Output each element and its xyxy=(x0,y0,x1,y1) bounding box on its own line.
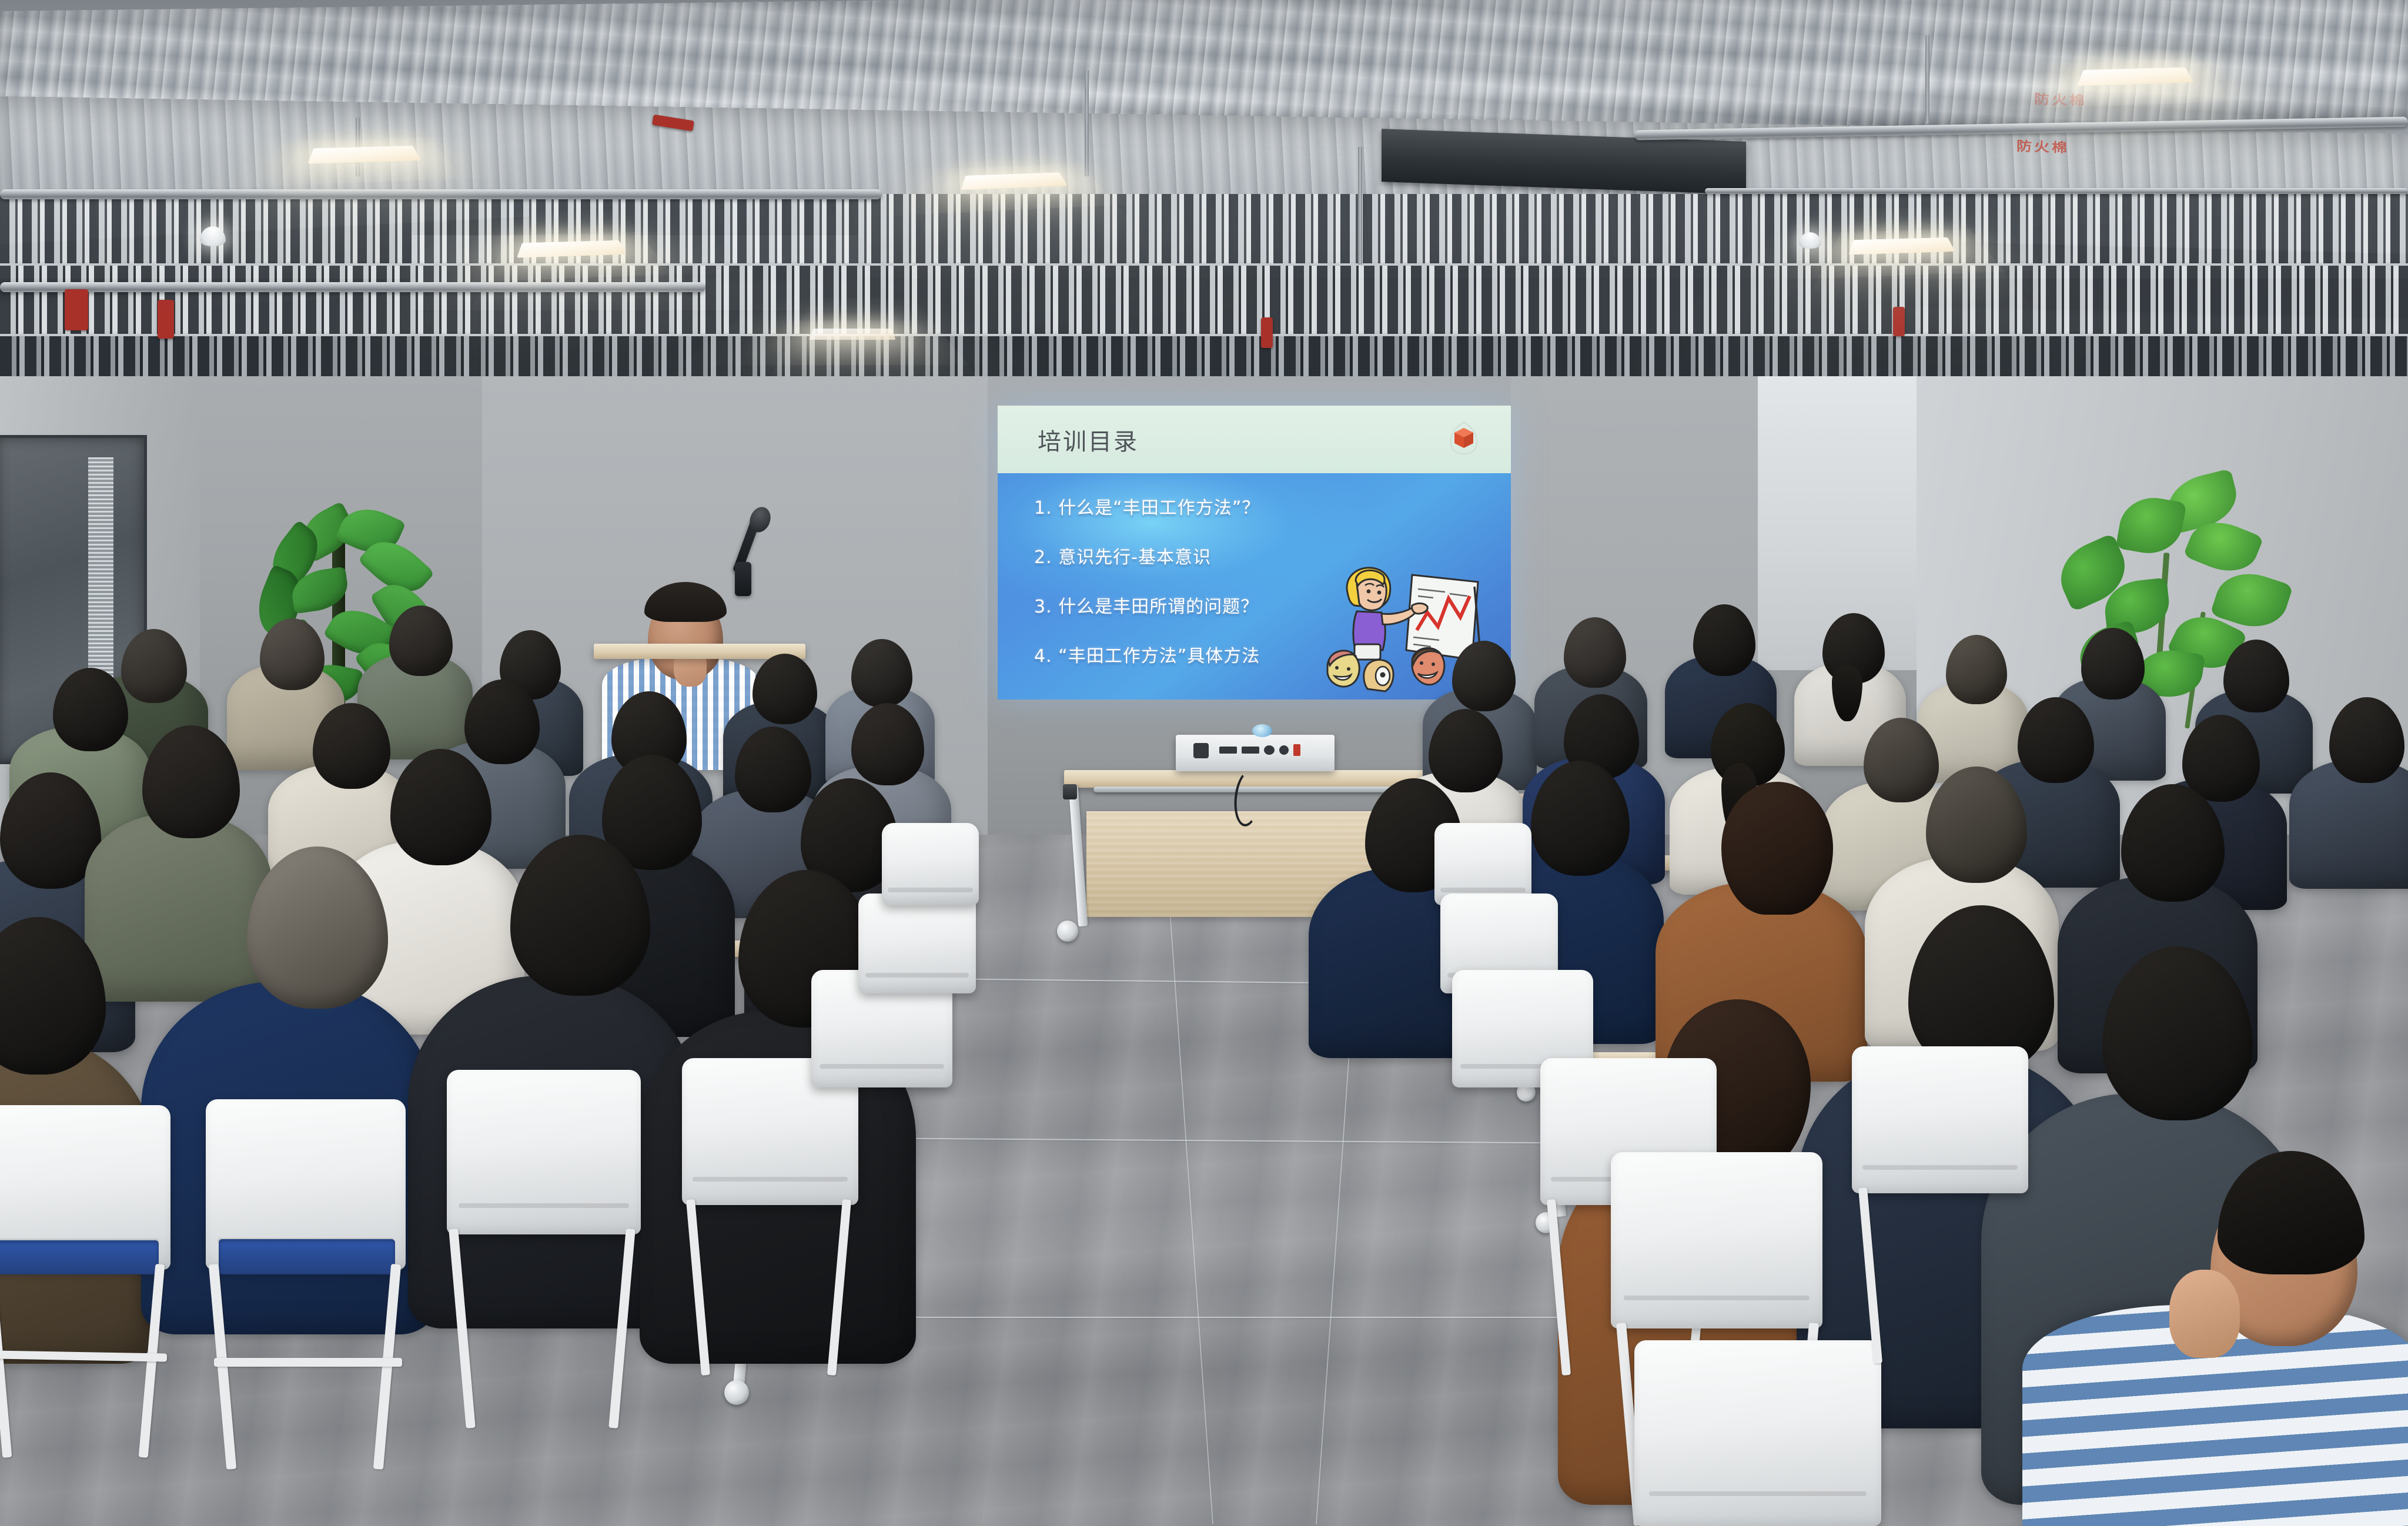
chair[interactable] xyxy=(1611,1152,1822,1328)
projector-table-caster-left xyxy=(1057,921,1078,942)
slide-header: 培训目录 xyxy=(998,406,1511,473)
projector[interactable] xyxy=(1176,735,1335,771)
sprinkler-pipe-red-2 xyxy=(158,300,174,339)
slide-agenda-item-3: 3. 什么是丰田所谓的问题？ xyxy=(1034,592,1363,618)
projector-power-button[interactable] xyxy=(1293,744,1300,756)
foil-printed-text-2: 防火棉 xyxy=(2034,89,2087,109)
chair[interactable] xyxy=(1852,1046,2028,1193)
sprinkler-pipe-red-4 xyxy=(1893,307,1905,336)
slide-agenda-item-4: 4. “丰田工作方法”具体方法 xyxy=(1034,641,1363,667)
chair[interactable] xyxy=(882,823,979,905)
metal-pipe-1 xyxy=(0,189,882,199)
sprinkler-pipe-red-3 xyxy=(1261,317,1273,348)
chair-stretcher xyxy=(214,1358,402,1367)
microphone-base xyxy=(735,562,751,596)
chair-cushion xyxy=(0,1240,159,1274)
projector-port-2 xyxy=(1242,747,1259,754)
table-caster-l4 xyxy=(724,1380,749,1405)
chair-cushion xyxy=(219,1239,395,1274)
light-hanger-3 xyxy=(1358,147,1362,265)
ceiling-slat-baffle-lower xyxy=(0,336,2408,376)
metal-pipe-3 xyxy=(1705,188,2408,194)
slide-title: 培训目录 xyxy=(1038,423,1139,457)
red-cube-logo-icon xyxy=(1447,420,1480,456)
projected-slide: 培训目录 1. 什么是“丰田工作方法”？ 2. 意识先行-基本意识 3. 什么是… xyxy=(998,406,1511,700)
training-room-photo: 防火棉 防火棉 xyxy=(0,0,2408,1526)
metal-pipe-2 xyxy=(0,282,705,292)
slide-agenda-item-1: 1. 什么是“丰田工作方法”？ xyxy=(1034,493,1363,519)
ceiling: 防火棉 防火棉 xyxy=(0,0,2408,376)
projector-lens xyxy=(1252,724,1272,737)
projector-port-1 xyxy=(1219,747,1237,754)
chair[interactable] xyxy=(1634,1340,1881,1526)
ceiling-slat-baffle-upper xyxy=(0,194,2408,265)
striped-person-hand xyxy=(2169,1270,2240,1358)
ceiling-slat-baffle-middle xyxy=(0,266,2408,336)
led-panel-light-4 xyxy=(809,329,896,340)
light-hanger-2 xyxy=(1085,71,1089,176)
projector-table-bracket-left xyxy=(1063,784,1077,799)
foil-printed-text: 防火棉 xyxy=(2016,136,2069,156)
chair[interactable] xyxy=(1434,823,1531,905)
chair[interactable] xyxy=(447,1070,641,1234)
slide-body: 1. 什么是“丰田工作方法”？ 2. 意识先行-基本意识 3. 什么是丰田所谓的… xyxy=(998,473,1511,700)
projector-port-3 xyxy=(1264,745,1275,755)
projector-vent xyxy=(1193,743,1209,758)
chair[interactable] xyxy=(858,893,976,993)
slide-agenda-item-2: 2. 意识先行-基本意识 xyxy=(1034,543,1363,568)
projector-port-4 xyxy=(1279,745,1289,755)
light-hanger-4 xyxy=(1925,35,1929,123)
slide-agenda-list: 1. 什么是“丰田工作方法”？ 2. 意识先行-基本意识 3. 什么是丰田所谓的… xyxy=(1034,493,1363,691)
sprinkler-pipe-red-1 xyxy=(65,289,88,330)
